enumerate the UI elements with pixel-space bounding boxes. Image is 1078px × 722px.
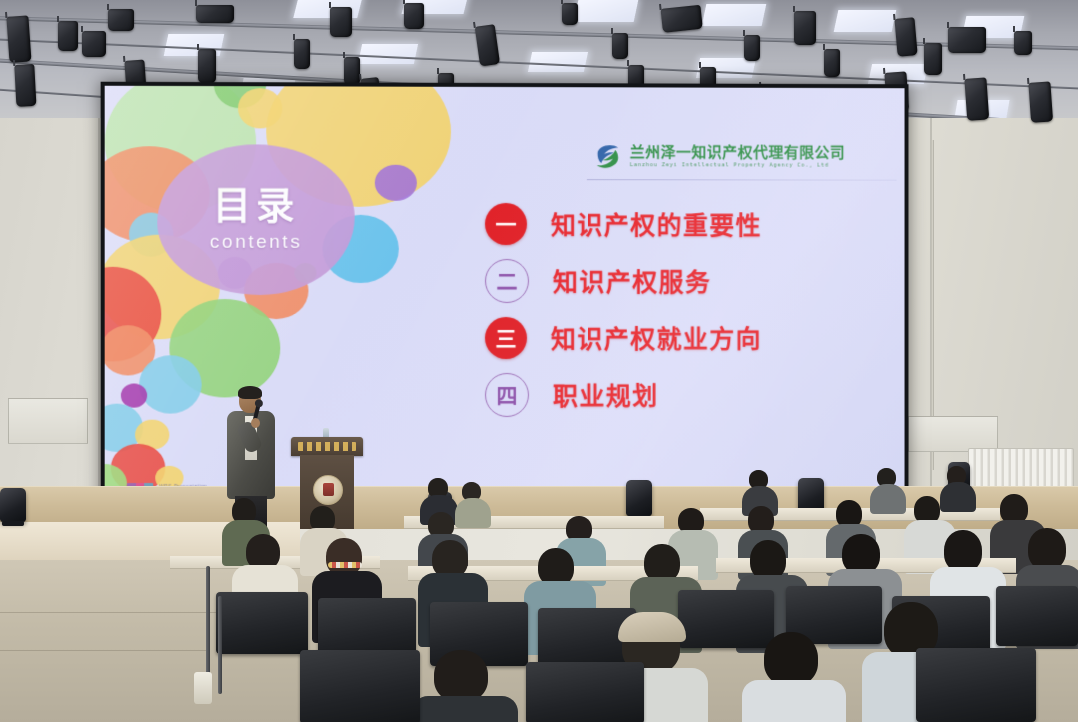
audience (0, 0, 1078, 722)
aisle-rail (218, 596, 222, 694)
hair-accessory (328, 562, 362, 568)
baseball-cap (618, 612, 686, 642)
lecture-hall-photo: 目录 contents 兰州泽一知识产权代理有限公司 Lanzhou Zeyi … (0, 0, 1078, 722)
aisle-rail (206, 566, 210, 676)
floor-object (194, 672, 212, 704)
